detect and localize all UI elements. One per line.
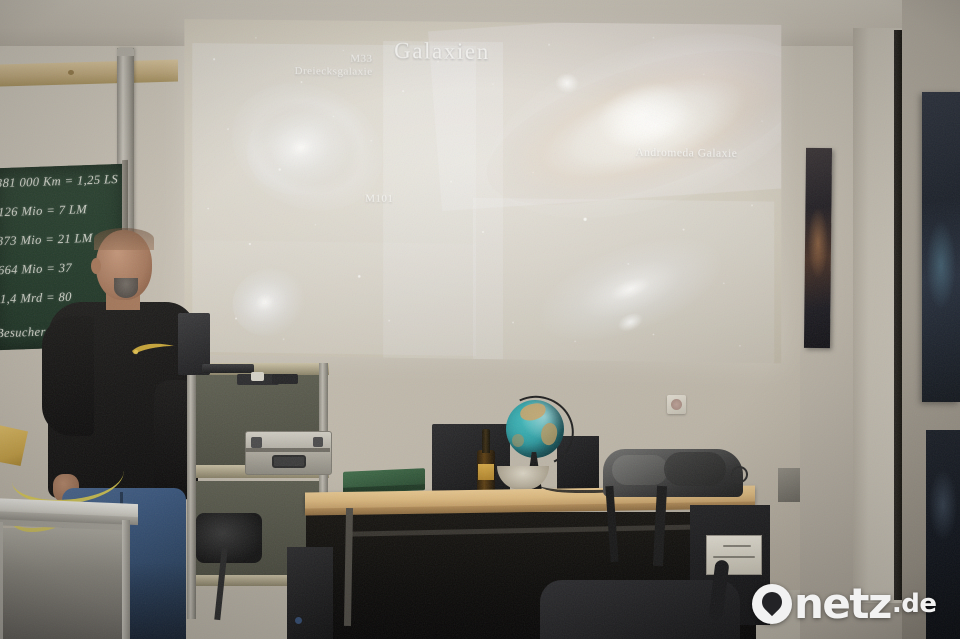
bottle-neck — [482, 429, 490, 453]
projected-slide: Galaxien M33 Dreiecksgalaxie M101 Androm… — [184, 19, 781, 363]
photo-scene: Galaxien M33 Dreiecksgalaxie M101 Androm… — [0, 0, 960, 639]
poster-nebula-glow — [808, 208, 828, 278]
sweater-logo — [130, 340, 176, 356]
flight-case-handle — [272, 455, 306, 468]
chalk-line-2: 126 Mio = 7 LM — [0, 202, 87, 220]
pc-power-led — [295, 617, 302, 624]
bottle-label — [478, 464, 494, 480]
white-table-leg — [122, 520, 130, 639]
flight-case-latch — [251, 437, 262, 448]
cabinet-label-line — [723, 545, 751, 547]
slide-label-andromeda: Andromeda Galaxie — [635, 147, 737, 160]
beam-knot — [68, 70, 74, 75]
presenter-ear — [91, 258, 101, 274]
andromeda-satellite — [555, 73, 579, 93]
chalk-line-1: 381 000 Km = 1,25 LS — [0, 172, 118, 191]
black-case — [432, 424, 510, 492]
slide-label-m33: M33 — [350, 53, 372, 65]
slide-title: Galaxien — [394, 38, 490, 65]
globe-landmass — [512, 434, 524, 447]
onetz-watermark: netz .de — [752, 583, 937, 625]
rail-cap — [117, 48, 134, 56]
rack-post-left — [187, 363, 196, 619]
cabinet-label-line — [713, 556, 755, 558]
white-table-underside — [0, 528, 130, 639]
slide-label-m33-subtitle: Dreiecksgalaxie — [295, 65, 373, 78]
poster-nebula-glow — [929, 470, 957, 540]
onetz-o-mark — [752, 584, 792, 624]
laptop — [202, 364, 254, 373]
wall-box — [778, 468, 800, 502]
backpack-fold — [664, 452, 726, 486]
location-pin-icon — [758, 588, 786, 616]
slide-label-m101: M101 — [365, 193, 393, 205]
backpack-fold — [612, 455, 668, 485]
flight-case-latch — [313, 437, 323, 447]
presenter-goatee — [114, 278, 138, 298]
watermark-text: netz — [794, 583, 891, 625]
telescope-mount — [196, 513, 262, 563]
poster-nebula-glow — [926, 220, 956, 310]
light-switch-button[interactable] — [671, 399, 682, 410]
av-gear-white-block — [251, 372, 264, 381]
doorway-gap — [894, 30, 902, 600]
white-table-leg — [0, 522, 3, 639]
presenter-hair — [94, 228, 154, 250]
watermark-suffix: .de — [892, 591, 937, 617]
pc-tower — [287, 547, 333, 639]
backpack-buckle — [731, 466, 748, 483]
presenter-left-shoulder — [42, 316, 94, 436]
flight-case-seam — [245, 448, 330, 452]
av-gear-dark-block — [272, 374, 298, 384]
